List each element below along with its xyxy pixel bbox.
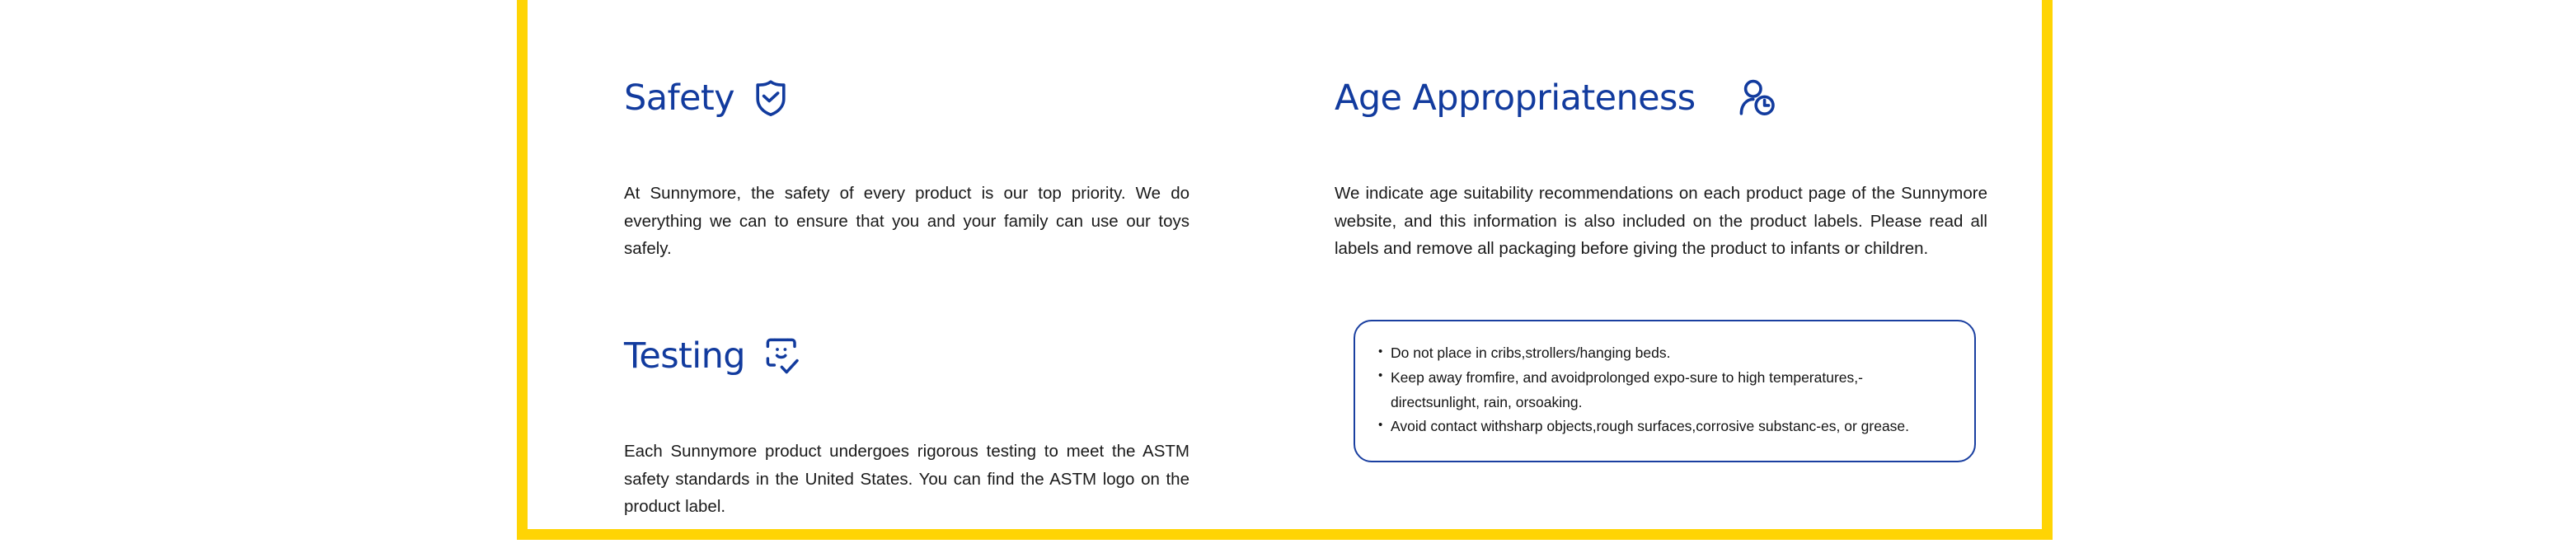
testing-heading: Testing [624,339,745,374]
warning-list-item: Avoid contact withsharp objects,rough su… [1378,415,1951,439]
safety-body-text: At Sunnymore, the safety of every produc… [624,180,1189,262]
age-appropriateness-heading: Age Appropriateness [1335,81,1696,116]
warning-list-item: Do not place in cribs,strollers/hanging … [1378,341,1951,366]
section-warnings: Do not place in cribs,strollers/hanging … [1354,320,1976,462]
face-scan-check-icon [763,335,801,377]
warning-list: Do not place in cribs,strollers/hanging … [1378,341,1951,439]
section-age-appropriateness: Age Appropriateness We indicate age suit… [1335,51,1990,262]
person-clock-icon [1737,77,1778,119]
age-heading-row: Age Appropriateness [1335,51,1990,145]
testing-heading-row: Testing [624,309,1193,403]
section-safety: Safety At Sunnymore, the safety of every… [624,51,1193,262]
safety-heading: Safety [624,81,734,116]
content-area: Safety At Sunnymore, the safety of every… [624,0,1992,553]
warning-box: Do not place in cribs,strollers/hanging … [1354,320,1976,462]
product-safety-page: Safety At Sunnymore, the safety of every… [0,0,2576,553]
shield-check-icon [753,78,789,118]
warning-list-item: Keep away fromfire, and avoidprolonged e… [1378,366,1951,415]
safety-heading-row: Safety [624,51,1193,145]
testing-body-text: Each Sunnymore product undergoes rigorou… [624,438,1189,520]
section-testing: Testing Each Sunnymore product undergoes… [624,309,1193,520]
age-appropriateness-body-text: We indicate age suitability recommendati… [1335,180,1987,262]
